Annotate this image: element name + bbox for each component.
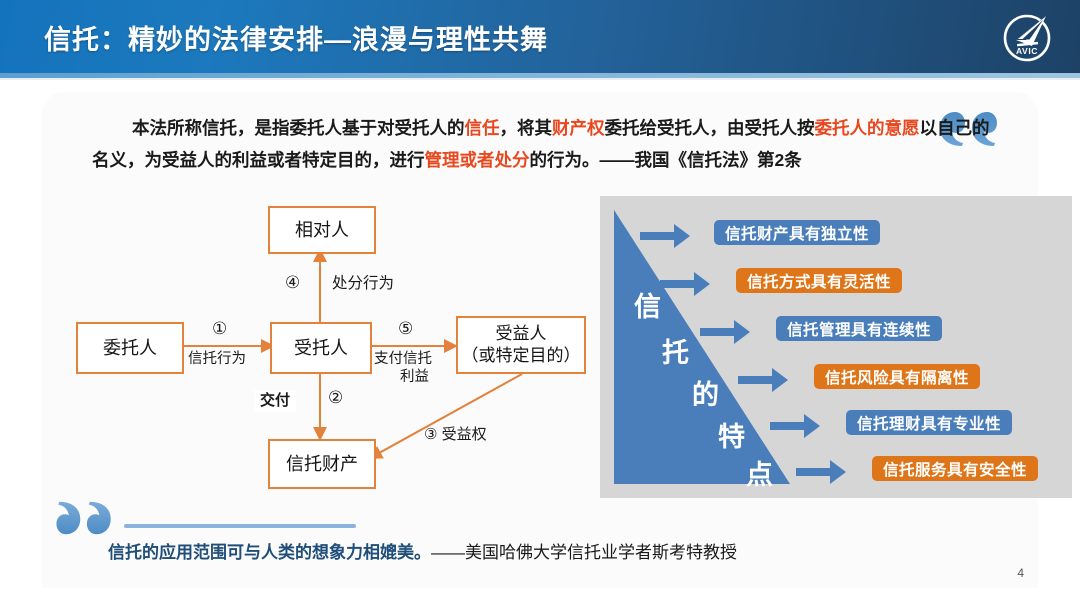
triangle-char-1: 托 xyxy=(662,338,689,368)
feature-item-1: 信托方式具有灵活性 xyxy=(736,268,902,293)
diagram-box-beneficiary-label-line1: 受益人 xyxy=(496,323,547,345)
feature-item-2: 信托管理具有连续性 xyxy=(776,316,942,341)
law-segment-4: 委托给受托人，由受托人按 xyxy=(605,118,815,138)
feature-item-4: 信托理财具有专业性 xyxy=(846,410,1012,435)
diagram-label-step2-text: 交付 xyxy=(254,390,296,412)
feature-item-3: 信托风险具有隔离性 xyxy=(814,364,980,389)
law-segment-7: 管理或者处分 xyxy=(425,150,530,170)
page-title: 信托：精妙的法律安排—浪漫与理性共舞 xyxy=(44,18,548,57)
diagram-box-beneficiary-label-line2: （或特定目的） xyxy=(462,345,581,367)
triangle-char-2: 的 xyxy=(692,379,719,410)
quote-mark-open-icon xyxy=(54,498,116,538)
diagram-label-step5-text-line1: 支付信托 xyxy=(374,350,432,368)
svg-text:AVIC: AVIC xyxy=(1016,46,1038,56)
header-accent-line-secondary xyxy=(0,78,1080,80)
feature-item-5: 信托服务具有安全性 xyxy=(872,456,1038,481)
page-number: 4 xyxy=(1017,566,1024,580)
diagram-label-step3: ③ 受益权 xyxy=(424,426,487,444)
bottom-quote: 信托的应用范围可与人类的想象力相媲美。——美国哈佛大学信托业学者斯考特教授 xyxy=(108,541,737,565)
law-segment-8: 的行为。——我国《信托法》第2条 xyxy=(530,150,802,170)
diagram-label-step5-number: ⑤ xyxy=(398,320,413,338)
law-definition-text: 本法所称信托，是指委托人基于对受托人的信任，将其财产权委托给受托人，由受托人按委… xyxy=(92,112,992,176)
diagram-box-counterparty-label: 相对人 xyxy=(295,219,349,241)
diagram-box-settlor-label: 委托人 xyxy=(103,337,157,359)
diagram-label-step4-text: 处分行为 xyxy=(332,275,394,293)
bottom-quote-main: 信托的应用范围可与人类的想象力相媲美。 xyxy=(108,543,431,562)
law-segment-5: 委托人的意愿 xyxy=(815,118,920,138)
law-segment-2: ，将其 xyxy=(500,118,553,138)
diagram-box-trust-property: 信托财产 xyxy=(268,439,376,489)
diagram-box-counterparty: 相对人 xyxy=(268,206,376,254)
diagram-box-trust-property-label: 信托财产 xyxy=(286,453,358,475)
trust-relationship-diagram: 相对人 委托人 受托人 受益人 （或特定目的） 信托财产 ① 信托行为 交付 ②… xyxy=(42,194,602,494)
trust-features-panel: 信 托 的 特 点 信托财产具有独立性 信托方式具有灵活性 信托管理具有连续性 … xyxy=(600,196,1072,498)
triangle-char-0: 信 xyxy=(634,292,661,322)
triangle-char-3: 特 xyxy=(718,422,745,452)
content-card: 本法所称信托，是指委托人基于对受托人的信任，将其财产权委托给受托人，由受托人按委… xyxy=(42,92,1038,588)
diagram-box-beneficiary: 受益人 （或特定目的） xyxy=(456,316,586,374)
diagram-box-trustee: 受托人 xyxy=(270,322,372,374)
law-segment-1: 信任 xyxy=(465,118,500,138)
diagram-label-step5-text-line2: 利益 xyxy=(400,368,429,386)
diagram-label-step1-text: 信托行为 xyxy=(188,350,246,368)
quote-rule-divider xyxy=(124,524,356,528)
diagram-label-step2-number: ② xyxy=(328,389,343,407)
diagram-box-trustee-label: 受托人 xyxy=(294,337,348,359)
diagram-label-step1-number: ① xyxy=(212,320,227,338)
bottom-quote-attribution: ——美国哈佛大学信托业学者斯考特教授 xyxy=(431,543,737,562)
diagram-box-settlor: 委托人 xyxy=(76,322,184,374)
triangle-char-4: 点 xyxy=(746,460,773,490)
avic-logo-icon: AVIC xyxy=(996,6,1058,68)
diagram-label-step4-number: ④ xyxy=(285,274,300,292)
law-segment-3: 财产权 xyxy=(552,118,605,138)
law-segment-0: 本法所称信托，是指委托人基于对受托人的 xyxy=(132,118,465,138)
feature-item-0: 信托财产具有独立性 xyxy=(714,220,880,245)
